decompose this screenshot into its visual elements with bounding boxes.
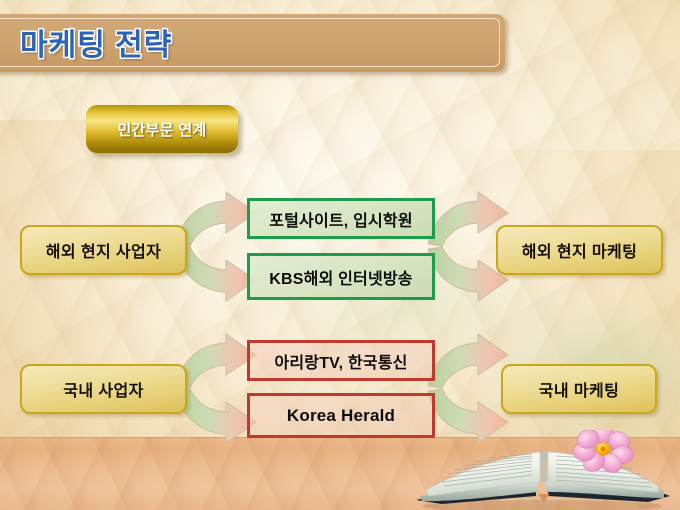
- private-sector-link-button[interactable]: 민간부문 연계: [86, 105, 238, 153]
- node-arirang-tv-korea-telecom-label: 아리랑TV, 한국통신: [274, 349, 407, 373]
- slide-canvas: 마케팅 전략 민간부문 연계: [0, 0, 680, 510]
- node-domestic-marketing-label: 국내 마케팅: [539, 377, 619, 401]
- node-domestic-operator-label: 국내 사업자: [63, 377, 143, 401]
- node-domestic-marketing[interactable]: 국내 마케팅: [501, 364, 657, 414]
- node-overseas-marketing-label: 해외 현지 마케팅: [522, 238, 638, 262]
- node-portal-site-cram-school[interactable]: 포털사이트, 입시학원: [247, 198, 435, 239]
- open-book-icon: [408, 430, 680, 510]
- node-domestic-operator[interactable]: 국내 사업자: [20, 364, 187, 414]
- node-overseas-operator-label: 해외 현지 사업자: [46, 238, 162, 262]
- node-portal-site-cram-school-label: 포털사이트, 입시학원: [269, 207, 413, 231]
- page-title: 마케팅 전략: [20, 20, 172, 64]
- node-kbs-overseas-internet-broadcast-label: KBS해외 인터넷방송: [269, 265, 412, 289]
- private-sector-link-label: 민간부문 연계: [117, 119, 206, 140]
- node-kbs-overseas-internet-broadcast[interactable]: KBS해외 인터넷방송: [247, 253, 435, 300]
- node-overseas-marketing[interactable]: 해외 현지 마케팅: [496, 225, 663, 275]
- node-korea-herald-label: Korea Herald: [287, 406, 395, 426]
- node-overseas-operator[interactable]: 해외 현지 사업자: [20, 225, 187, 275]
- title-bar: 마케팅 전략: [0, 14, 505, 72]
- node-korea-herald[interactable]: Korea Herald: [247, 393, 435, 438]
- node-arirang-tv-korea-telecom[interactable]: 아리랑TV, 한국통신: [247, 340, 435, 381]
